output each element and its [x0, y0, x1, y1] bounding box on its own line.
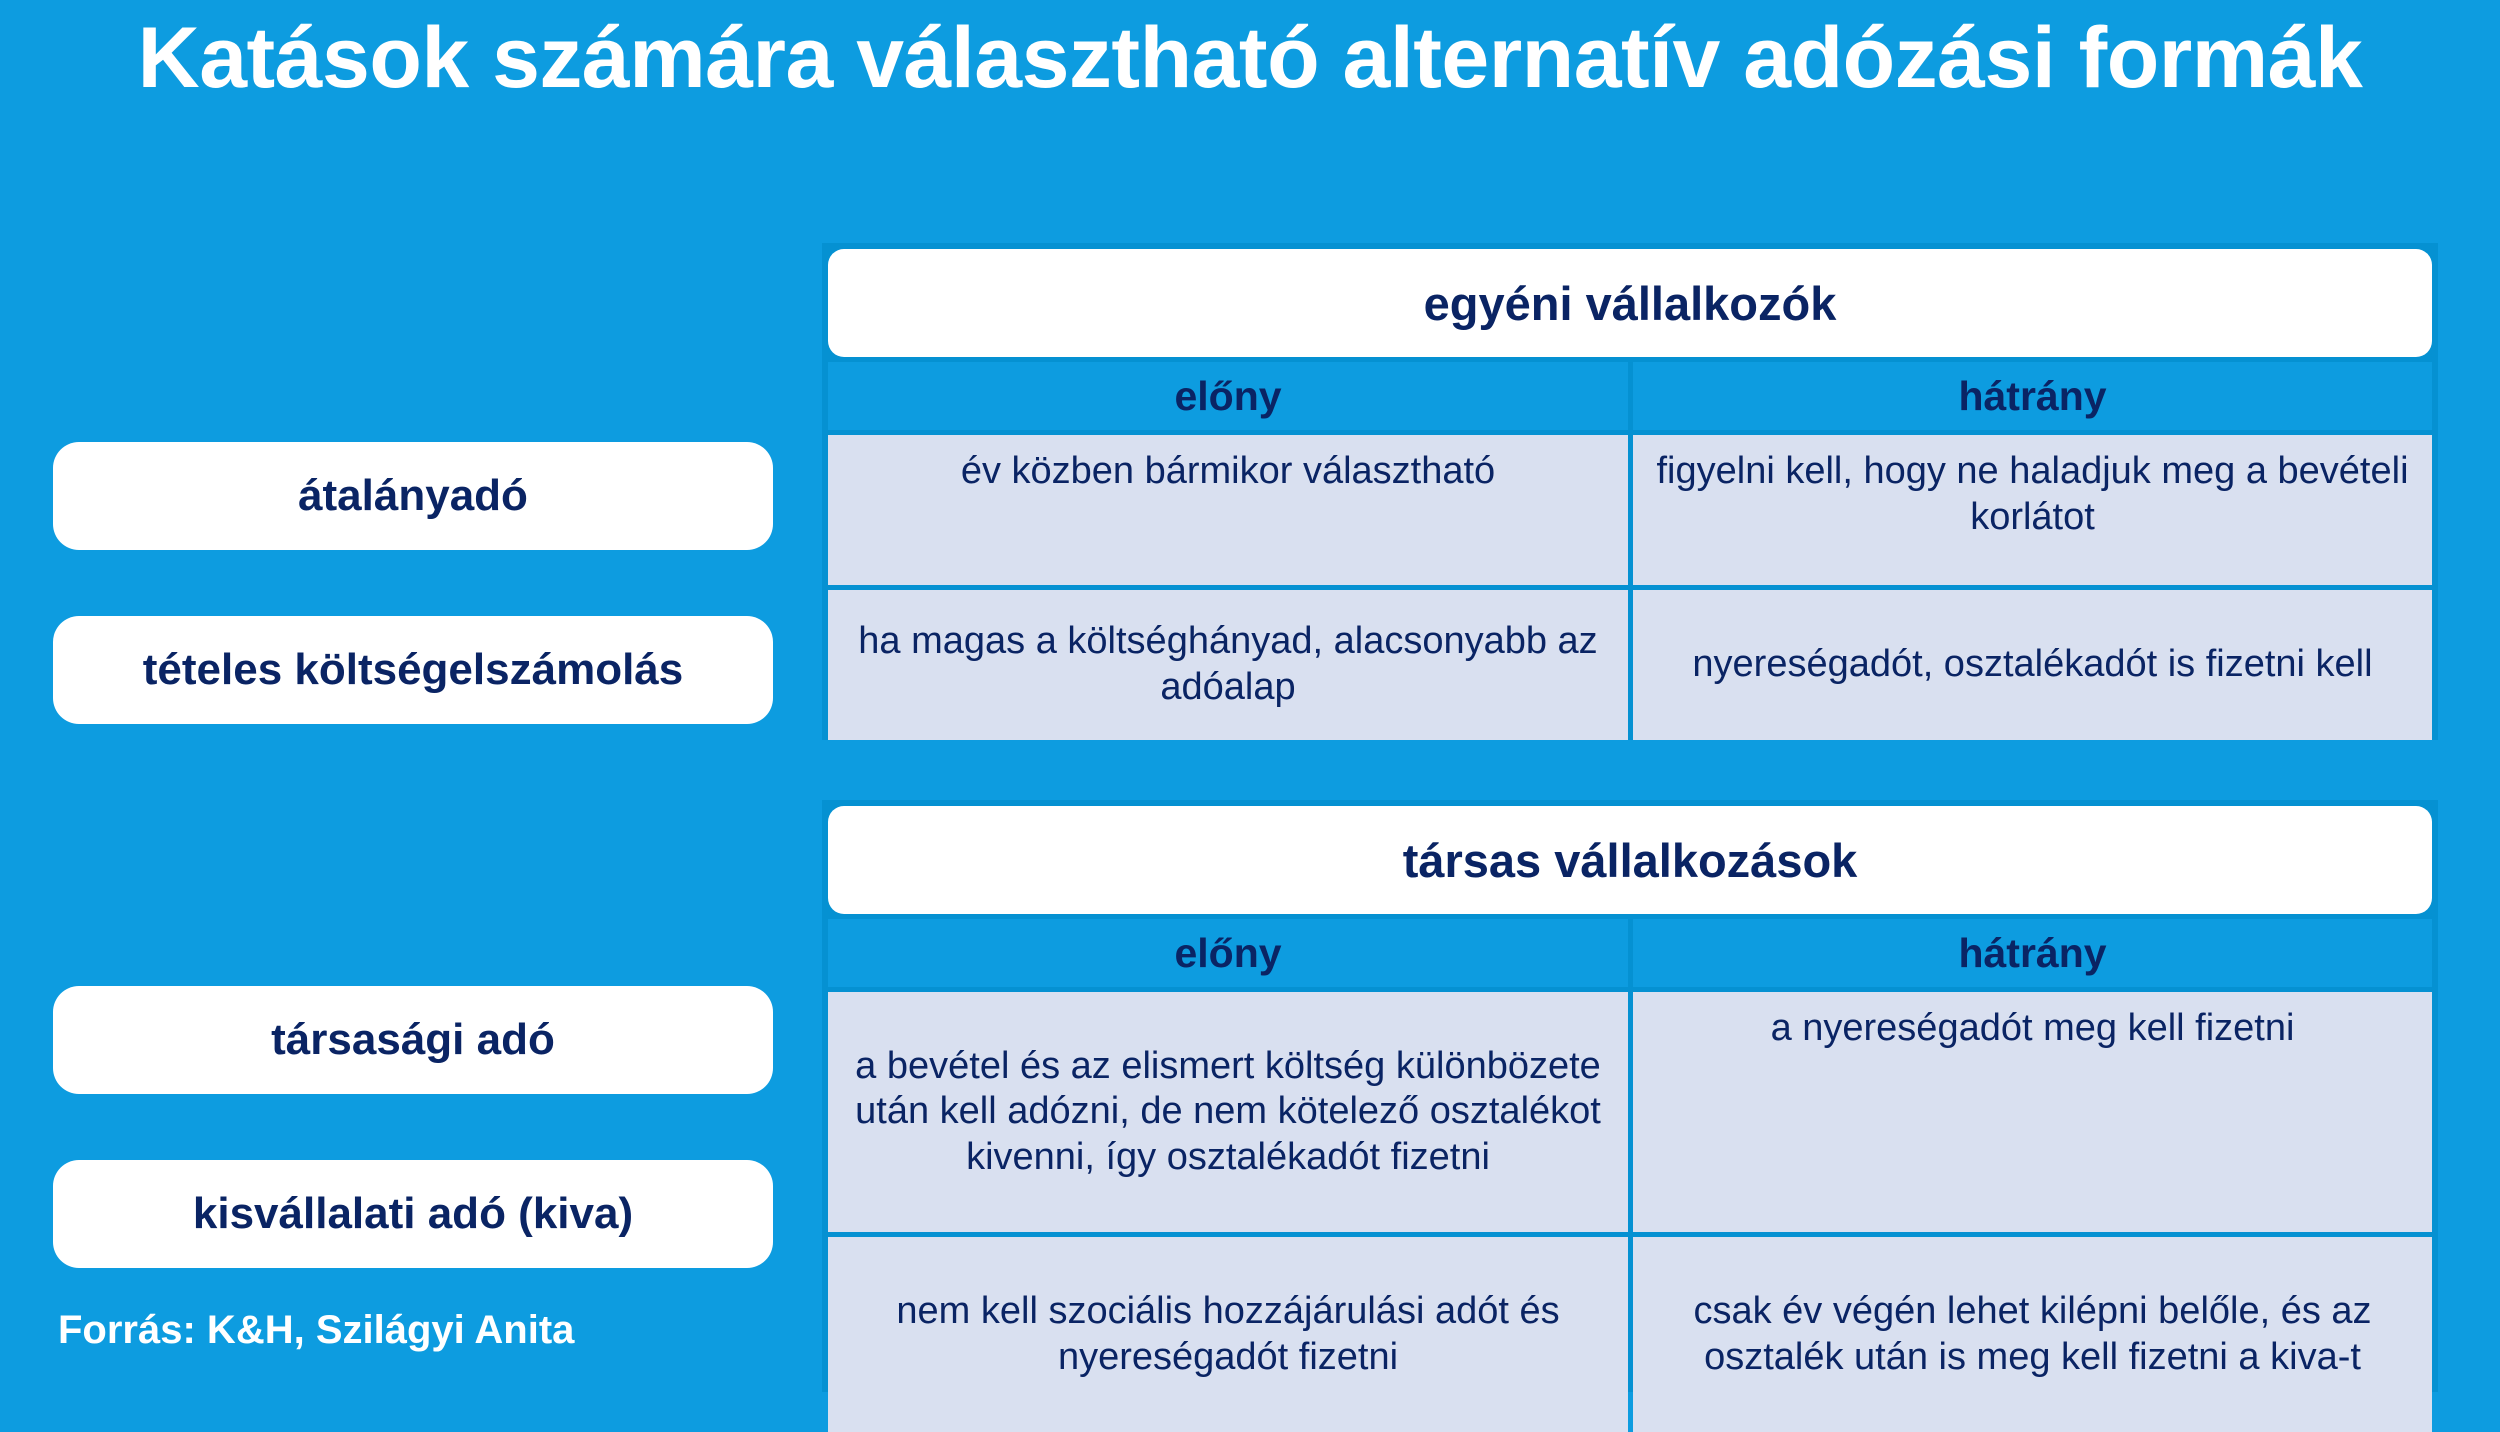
pill-label: kisvállalati adó (kiva)	[193, 1190, 633, 1238]
cell-disadvantage: nyereségadót, osztalékadót is fizetni ke…	[1633, 590, 2432, 740]
column-header-hatrany: hátrány	[1633, 919, 2432, 987]
cell-disadvantage: csak év végén lehet kilépni belőle, és a…	[1633, 1237, 2432, 1432]
cell-advantage: ha magas a költséghányad, alacsonyabb az…	[828, 590, 1628, 740]
table-row: év közben bármikor választható figyelni …	[828, 435, 2432, 585]
pill-label: átalányadó	[298, 472, 528, 520]
table-row: nem kell szociális hozzájárulási adót és…	[828, 1237, 2432, 1432]
pill-tarsasagi-ado: társasági adó	[53, 986, 773, 1094]
cell-disadvantage: a nyereségadót meg kell fizetni	[1633, 992, 2432, 1232]
pill-kisvallalati-ado-kiva: kisvállalati adó (kiva)	[53, 1160, 773, 1268]
cell-advantage: nem kell szociális hozzájárulási adót és…	[828, 1237, 1628, 1432]
column-header-hatrany: hátrány	[1633, 362, 2432, 430]
pill-label: tételes költségelszámolás	[143, 646, 683, 694]
pill-teteles-koltsegelszamolas: tételes költségelszámolás	[53, 616, 773, 724]
cell-advantage: év közben bármikor választható	[828, 435, 1628, 585]
pill-label: társasági adó	[271, 1016, 555, 1064]
column-header-elony: előny	[828, 362, 1628, 430]
pill-atalanyado: átalányadó	[53, 442, 773, 550]
cell-disadvantage: figyelni kell, hogy ne haladjuk meg a be…	[1633, 435, 2432, 585]
table-header-row: előny hátrány	[828, 362, 2432, 430]
page-title: Katások számára választható alternatív a…	[0, 10, 2500, 106]
column-header-elony: előny	[828, 919, 1628, 987]
source-attribution: Forrás: K&H, Szilágyi Anita	[58, 1308, 574, 1353]
cell-advantage: a bevétel és az elismert költség különbö…	[828, 992, 1628, 1232]
table-header-row: előny hátrány	[828, 919, 2432, 987]
table-tarsas-vallalkozasok: társas vállalkozások előny hátrány a bev…	[822, 800, 2438, 1392]
table-title: társas vállalkozások	[828, 806, 2432, 914]
table-row: a bevétel és az elismert költség különbö…	[828, 992, 2432, 1232]
table-title: egyéni vállalkozók	[828, 249, 2432, 357]
table-row: ha magas a költséghányad, alacsonyabb az…	[828, 590, 2432, 740]
table-egyeni-vallalkozok: egyéni vállalkozók előny hátrány év közb…	[822, 243, 2438, 740]
